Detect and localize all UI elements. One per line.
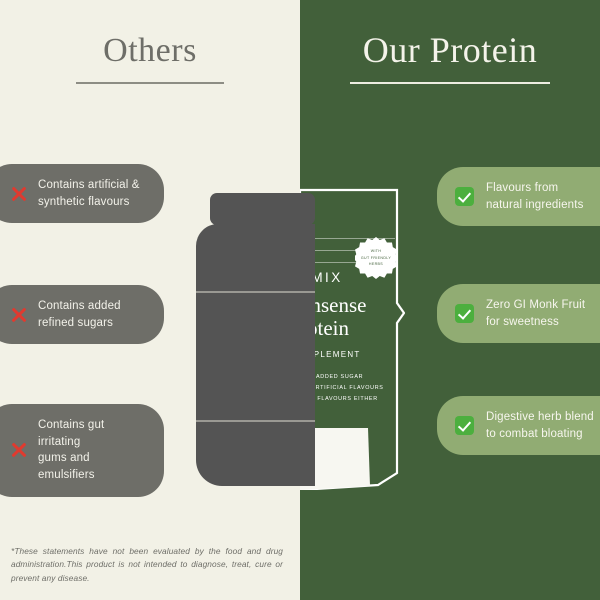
pro-pill-3-text: Digestive herb blendto combat bloating [486,409,594,442]
header-our-protein: Our Protein [300,32,600,84]
header-our-protein-underline [350,82,550,84]
con-pill-2: Contains addedrefined sugars [0,285,164,344]
disclaimer-text: *These statements have not been evaluate… [11,545,283,585]
con-pill-3: Contains gut irritatinggums and emulsifi… [0,404,164,497]
cross-icon [10,441,28,459]
header-others: Others [0,34,300,84]
cross-icon [10,185,28,203]
comparison-infographic: Others Our Protein Contains artificial &… [0,0,600,600]
check-icon [455,304,474,323]
con-pill-1-text: Contains artificial &synthetic flavours [38,177,140,210]
con-pill-3-text: Contains gut irritatinggums and emulsifi… [38,417,148,484]
pro-pill-2-text: Zero GI Monk Fruitfor sweetness [486,297,585,330]
tub-divider-line-1 [196,291,315,293]
product-tub-lid [210,193,315,225]
badge-text: WITH GUT FRIENDLY HERBS [355,237,397,279]
con-pill-2-text: Contains addedrefined sugars [38,298,121,331]
gut-friendly-herbs-badge: WITH GUT FRIENDLY HERBS [355,237,397,279]
con-pill-1: Contains artificial &synthetic flavours [0,164,164,223]
check-icon [455,187,474,206]
product-tub-body [196,224,315,486]
pro-pill-2: Zero GI Monk Fruitfor sweetness [437,284,600,343]
pro-pill-3: Digestive herb blendto combat bloating [437,396,600,455]
pro-pill-1: Flavours fromnatural ingredients [437,167,600,226]
header-our-protein-title: Our Protein [300,32,600,68]
tub-divider-line-2 [196,420,315,422]
cross-icon [10,306,28,324]
header-others-underline [76,82,224,84]
check-icon [455,416,474,435]
pro-pill-1-text: Flavours fromnatural ingredients [486,180,583,213]
header-others-title: Others [0,34,300,68]
